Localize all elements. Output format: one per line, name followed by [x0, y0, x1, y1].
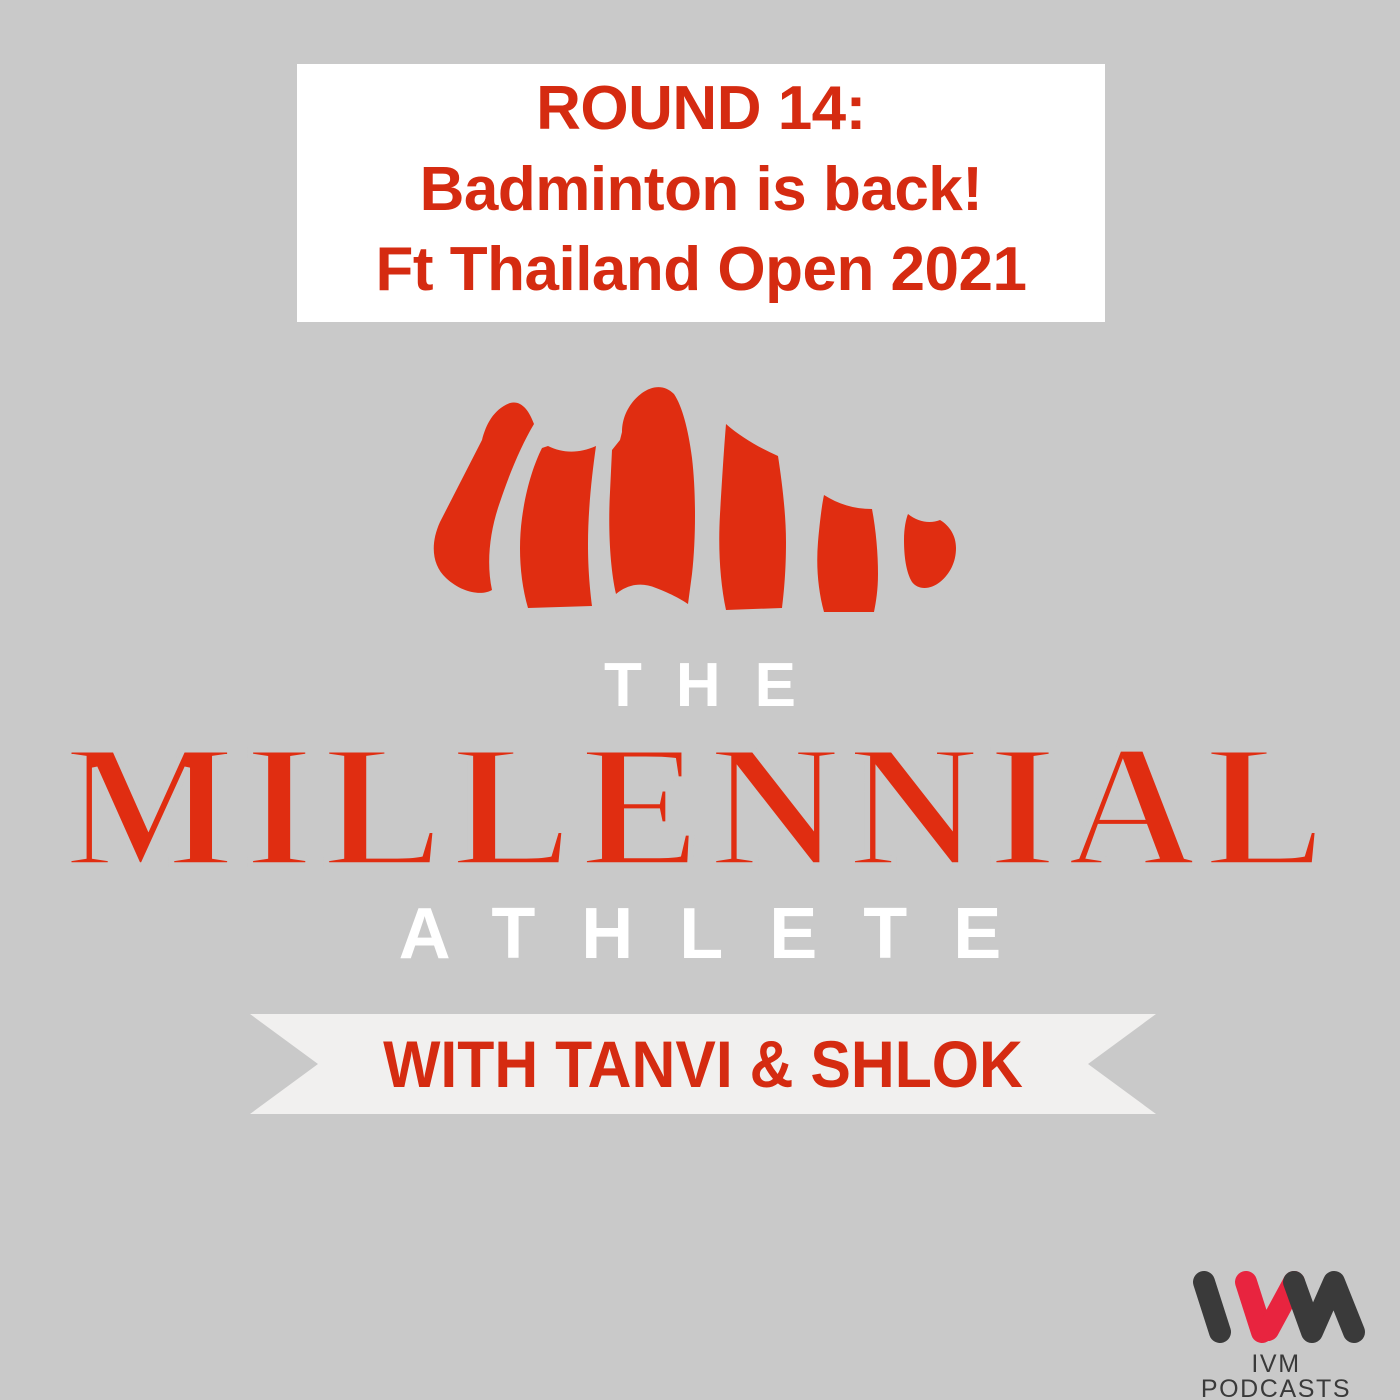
show-the-word: THE: [0, 655, 1400, 717]
ivm-podcasts-logo: IVM PODCASTS: [1176, 1268, 1376, 1388]
striped-cone-icon: [420, 362, 980, 620]
episode-title-line-2: Badminton is back!: [420, 150, 983, 231]
episode-title-banner: ROUND 14: Badminton is back! Ft Thailand…: [297, 64, 1105, 322]
podcast-cover-art: ROUND 14: Badminton is back! Ft Thailand…: [0, 0, 1400, 1400]
episode-title-line-1: ROUND 14:: [536, 69, 866, 150]
ivm-podcasts-wordmark: IVM PODCASTS: [1176, 1352, 1376, 1400]
hosts-ribbon: WITH TANVI & SHLOK: [250, 1014, 1156, 1114]
hosts-label: WITH TANVI & SHLOK: [286, 1014, 1120, 1114]
ivm-monogram-icon: [1176, 1268, 1376, 1346]
svg-text:MILLENNIAL: MILLENNIAL: [66, 737, 1335, 887]
episode-title-line-3: Ft Thailand Open 2021: [376, 230, 1027, 311]
show-title-millennial: .vletter { font-family: "Liberation Seri…: [0, 737, 1400, 887]
show-athlete-word: ATHLETE: [0, 898, 1400, 970]
